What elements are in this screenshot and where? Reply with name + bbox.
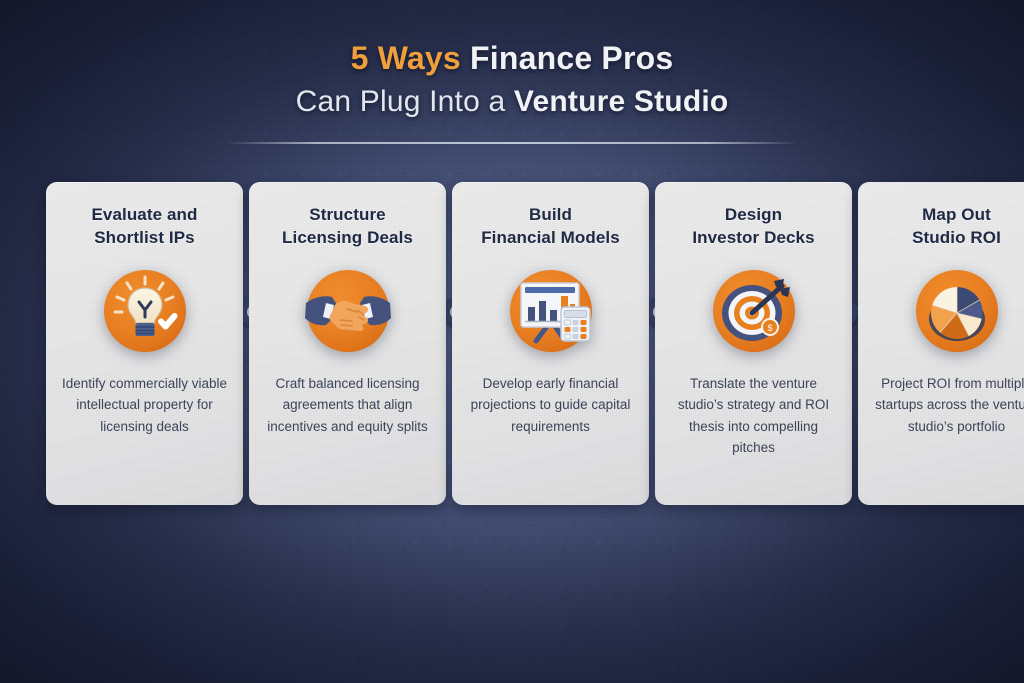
header: 5 Ways Finance Pros Can Plug Into a Vent… [0, 36, 1024, 124]
step-title-3-line1: Build [529, 205, 572, 224]
step-title-3-line2: Financial Models [481, 228, 620, 247]
step-title-4-line1: Design [725, 205, 782, 224]
step-card-1[interactable]: Evaluate and Shortlist IPs [46, 182, 243, 505]
step-desc-5: Project ROI from multiple startups acros… [870, 373, 1024, 437]
handshake-icon [302, 265, 394, 357]
step-title-2-line2: Licensing Deals [282, 228, 413, 247]
title-line-1: 5 Ways Finance Pros [0, 36, 1024, 81]
svg-text:$: $ [767, 323, 772, 333]
step-title-5-line1: Map Out [922, 205, 991, 224]
chart-board-calculator-icon [505, 265, 597, 357]
step-card-3[interactable]: Build Financial Models [452, 182, 649, 505]
step-desc-2: Craft balanced licensing agreements that… [261, 373, 434, 437]
step-card-4[interactable]: Design Investor Decks [655, 182, 852, 505]
step-desc-1: Identify commercially viable intellectua… [58, 373, 231, 437]
header-divider [226, 142, 798, 144]
step-title-1-line2: Shortlist IPs [94, 228, 195, 247]
step-title-5: Map Out Studio ROI [912, 204, 1001, 249]
step-desc-3: Develop early financial projections to g… [464, 373, 637, 437]
step-title-5-line2: Studio ROI [912, 228, 1001, 247]
step-desc-4: Translate the venture studio’s strategy … [667, 373, 840, 458]
step-title-2: Structure Licensing Deals [282, 204, 413, 249]
step-title-2-line1: Structure [309, 205, 385, 224]
lightbulb-check-icon [99, 265, 191, 357]
steps-row: Evaluate and Shortlist IPs [46, 182, 1024, 505]
step-title-3: Build Financial Models [481, 204, 620, 249]
step-card-2[interactable]: Structure Licensing Deals [249, 182, 446, 505]
title-line-2-bold: Venture Studio [514, 85, 729, 118]
title-line-2-light: Can Plug Into a [296, 85, 514, 118]
step-title-1-line1: Evaluate and [91, 205, 197, 224]
title-accent: 5 Ways [351, 40, 461, 76]
step-card-5[interactable]: Map Out Studio ROI [858, 182, 1024, 505]
target-arrow-icon: $ [708, 265, 800, 357]
step-title-4: Design Investor Decks [692, 204, 814, 249]
title-line-2: Can Plug Into a Venture Studio [0, 81, 1024, 124]
step-title-1: Evaluate and Shortlist IPs [91, 204, 197, 249]
infographic-canvas: 5 Ways Finance Pros Can Plug Into a Vent… [0, 0, 1024, 683]
step-title-4-line2: Investor Decks [692, 228, 814, 247]
pie-chart-icon [911, 265, 1003, 357]
title-line-1-rest: Finance Pros [461, 40, 673, 76]
